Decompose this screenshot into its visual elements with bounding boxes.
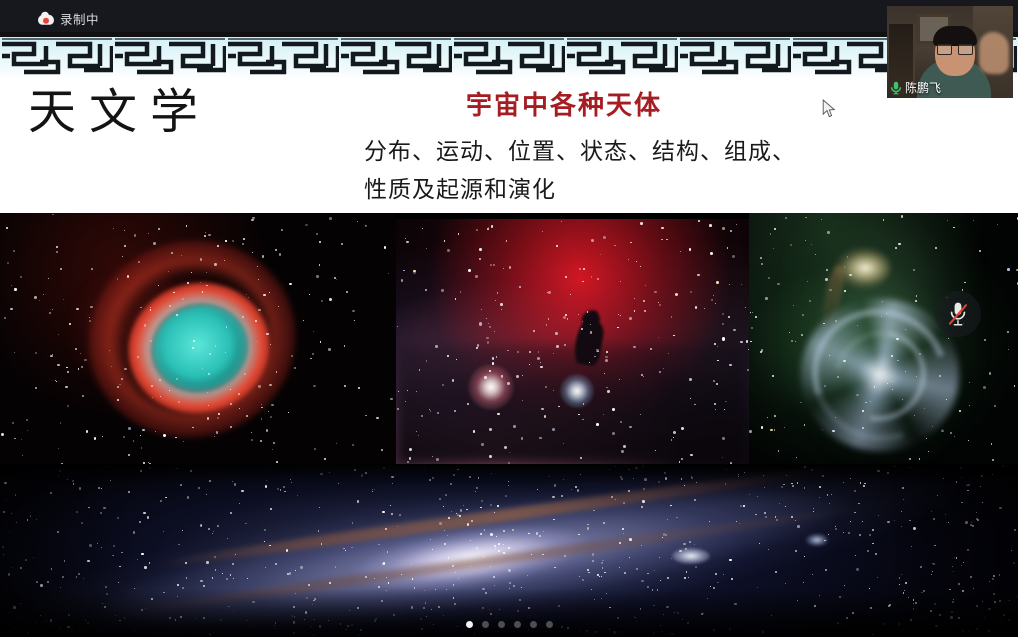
recording-indicator[interactable]: 录制中 xyxy=(38,14,99,27)
pagination-dot-2[interactable] xyxy=(482,621,489,628)
mute-status-bubble[interactable] xyxy=(935,291,981,337)
recording-cloud-icon xyxy=(38,14,54,26)
image-andromeda-galaxy xyxy=(0,464,1018,637)
pagination-dot-1[interactable] xyxy=(466,621,473,628)
slide-pagination[interactable] xyxy=(0,621,1018,628)
starfield-whirlpool xyxy=(749,213,1018,464)
starfield-helix xyxy=(0,213,396,464)
participant-name-badge: 陈鹏飞 xyxy=(890,81,941,95)
chinese-meander-fret-border xyxy=(0,32,1018,78)
recording-label: 录制中 xyxy=(60,14,99,27)
screen-share-viewport: 录制中 xyxy=(0,0,1018,637)
slide-body-text: 分布、运动、位置、状态、结构、组成、 性质及起源和演化 xyxy=(364,133,924,209)
image-horsehead-nebula xyxy=(396,219,749,464)
pagination-dot-3[interactable] xyxy=(498,621,505,628)
body-line-1: 分布、运动、位置、状态、结构、组成、 xyxy=(364,133,924,171)
microphone-icon xyxy=(890,81,902,95)
image-helix-nebula xyxy=(0,213,396,464)
pagination-dot-4[interactable] xyxy=(514,621,521,628)
participant-name: 陈鹏飞 xyxy=(905,82,941,94)
fret-pattern-graphic xyxy=(0,32,1018,78)
slide-paper-area: 天文学 宇宙中各种天体 分布、运动、位置、状态、结构、组成、 性质及起源和演化 xyxy=(0,32,1018,213)
image-whirlpool-galaxy xyxy=(749,213,1018,464)
self-view-video-tile[interactable]: 陈鹏飞 xyxy=(887,6,1013,98)
pagination-dot-6[interactable] xyxy=(546,621,553,628)
microphone-muted-icon xyxy=(947,301,969,327)
body-line-2: 性质及起源和演化 xyxy=(364,171,924,209)
image-strip xyxy=(0,213,1018,464)
starfield-horsehead xyxy=(396,219,749,464)
slide-heading: 宇宙中各种天体 xyxy=(466,85,662,122)
meeting-top-bar: 录制中 xyxy=(0,0,1018,32)
pagination-dot-5[interactable] xyxy=(530,621,537,628)
page-title: 天文学 xyxy=(28,85,211,140)
shared-slide[interactable]: 天文学 宇宙中各种天体 分布、运动、位置、状态、结构、组成、 性质及起源和演化 xyxy=(0,32,1018,637)
starfield-andromeda xyxy=(0,464,1018,637)
